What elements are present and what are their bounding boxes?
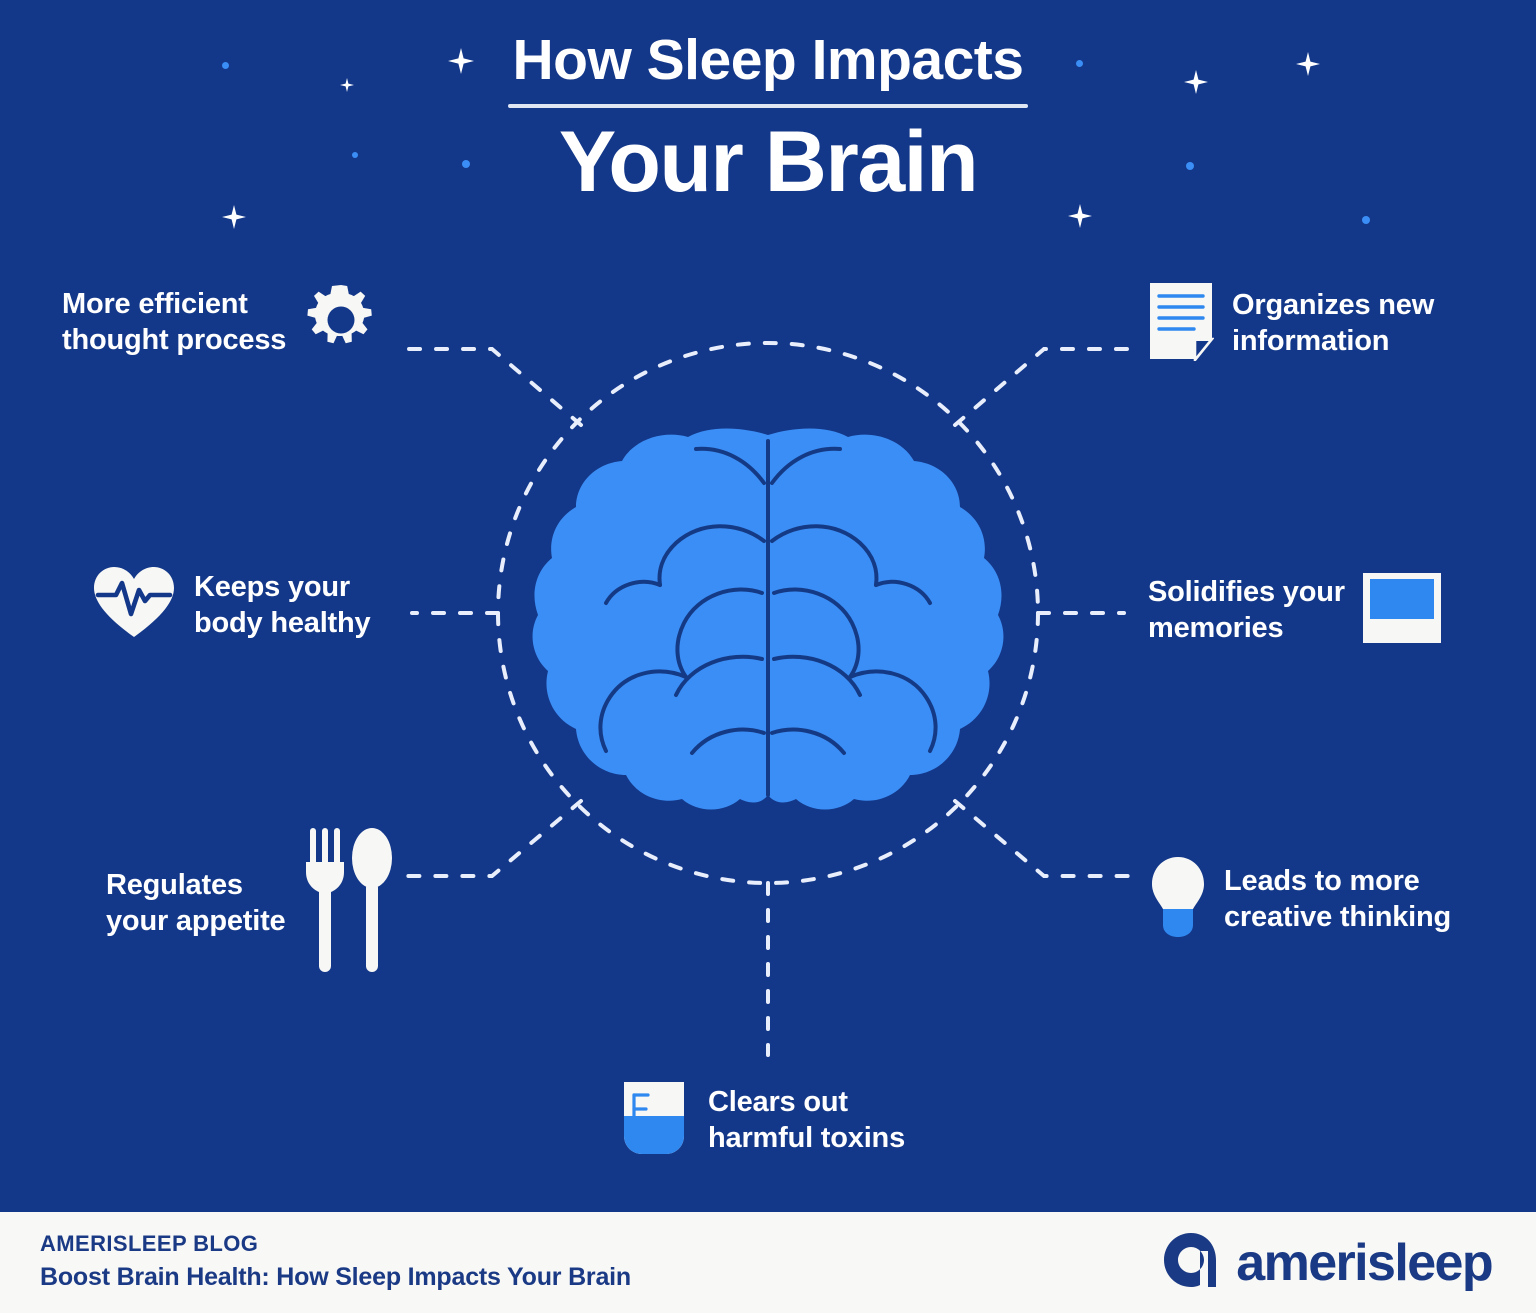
spoke-line-thought-process [398,349,581,425]
spoke-label-solidifies-memories: Solidifies your memories [1148,575,1345,646]
footer-subtitle: Boost Brain Health: How Sleep Impacts Yo… [40,1261,631,1295]
heart-pulse-icon [92,565,176,646]
spoke-label-regulates-appetite: Regulates your appetite [106,868,286,939]
spoke-item-clears-toxins[interactable]: Clears out harmful toxins [618,1078,905,1163]
spoke-line-regulates-appetite [398,801,581,876]
infographic-poster: How Sleep Impacts Your Brain [0,0,1536,1313]
spoke-line-creative-thinking [955,801,1138,876]
spoke-item-solidifies-memories[interactable]: Solidifies your memories [1148,573,1441,648]
title-line-1: How Sleep Impacts [0,28,1536,94]
document-icon [1148,281,1214,366]
dot-icon [1362,216,1370,224]
photo-icon [1363,573,1441,648]
footer-kicker: AMERISLEEP BLOG [40,1230,631,1259]
amerisleep-brand[interactable]: amerisleep [1162,1231,1492,1294]
footer-text-block: AMERISLEEP BLOG Boost Brain Health: How … [40,1230,631,1294]
spoke-item-creative-thinking[interactable]: Leads to more creative thinking [1150,855,1451,944]
brain-sulci-right [772,449,936,753]
lightbulb-icon [1150,855,1206,944]
brain-illustration [533,429,1004,810]
spoke-label-creative-thinking: Leads to more creative thinking [1224,864,1451,935]
page-title: How Sleep Impacts Your Brain [0,28,1536,210]
spoke-item-regulates-appetite[interactable]: Regulates your appetite [106,828,396,979]
spoke-label-clears-toxins: Clears out harmful toxins [708,1085,905,1156]
amerisleep-wordmark: amerisleep [1236,1237,1492,1289]
spoke-label-organizes-information: Organizes new information [1232,288,1434,359]
amerisleep-logo-icon [1162,1231,1220,1294]
brain-sulci-left [600,449,764,753]
poster-canvas: How Sleep Impacts Your Brain [0,0,1536,1212]
gear-icon [304,283,378,362]
spoke-label-thought-process: More efficient thought process [62,287,286,358]
spoke-line-organizes-information [955,349,1138,425]
title-line-2: Your Brain [0,114,1536,210]
spoke-item-body-healthy[interactable]: Keeps your body healthy [92,565,370,646]
spoke-item-thought-process[interactable]: More efficient thought process [62,283,378,362]
spoke-item-organizes-information[interactable]: Organizes new information [1148,281,1434,366]
fork-spoon-icon [304,828,396,979]
spoke-label-body-healthy: Keeps your body healthy [194,570,370,641]
footer-bar: AMERISLEEP BLOG Boost Brain Health: How … [0,1212,1536,1313]
title-divider [508,104,1028,108]
beaker-icon [618,1078,690,1163]
dashed-ring [498,343,1038,883]
